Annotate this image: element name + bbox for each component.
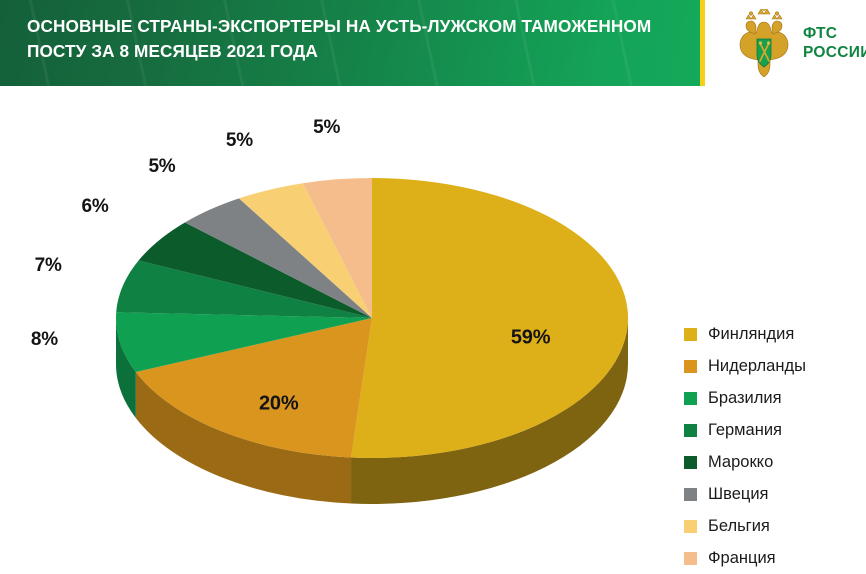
pie-label-бразилия: 8%: [31, 329, 58, 351]
legend-color-swatch: [684, 360, 697, 373]
legend-item[interactable]: Швеция: [684, 478, 864, 510]
legend-item[interactable]: Бельгия: [684, 510, 864, 542]
legend-item[interactable]: Марокко: [684, 446, 864, 478]
header-yellow-accent-bar: [700, 0, 705, 86]
legend-item-label: Швеция: [708, 485, 768, 504]
legend-item-label: Франция: [708, 549, 776, 568]
pie-label-франция: 5%: [313, 117, 340, 139]
pie-label-швеция: 5%: [148, 156, 175, 178]
legend-item[interactable]: Финляндия: [684, 318, 864, 350]
legend-item[interactable]: Бразилия: [684, 382, 864, 414]
page-title: ОСНОВНЫЕ СТРАНЫ-ЭКСПОРТЕРЫ НА УСТЬ-ЛУЖСК…: [27, 14, 687, 64]
pie-label-финляндия: 59%: [511, 326, 550, 349]
legend-item-label: Германия: [708, 421, 782, 440]
fts-logo-text: ФТС РОССИИ: [803, 24, 866, 62]
pie-chart: 59%20%8%7%6%5%5%5% ФинляндияНидерландыБр…: [0, 86, 866, 526]
legend-color-swatch: [684, 520, 697, 533]
legend-color-swatch: [684, 488, 697, 501]
legend-item[interactable]: Нидерланды: [684, 350, 864, 382]
legend-item-label: Марокко: [708, 453, 773, 472]
legend-item[interactable]: Франция: [684, 542, 864, 574]
legend-color-swatch: [684, 456, 697, 469]
legend-item-label: Нидерланды: [708, 357, 806, 376]
legend-color-swatch: [684, 328, 697, 341]
legend-item-label: Бразилия: [708, 389, 782, 408]
legend-color-swatch: [684, 392, 697, 405]
chart-legend: ФинляндияНидерландыБразилияГерманияМарок…: [684, 318, 864, 574]
pie-label-бельгия: 5%: [226, 130, 253, 152]
fts-logo: ФТС РОССИИ: [727, 7, 859, 79]
pie-label-марокко: 6%: [81, 196, 108, 218]
pie-label-германия: 7%: [35, 255, 62, 277]
legend-color-swatch: [684, 424, 697, 437]
pie-svg: [95, 96, 665, 516]
pie-label-нидерланды: 20%: [259, 393, 298, 416]
legend-color-swatch: [684, 552, 697, 565]
legend-item-label: Бельгия: [708, 517, 770, 536]
legend-item-label: Финляндия: [708, 325, 794, 344]
pie-graphic: 59%20%8%7%6%5%5%5%: [95, 96, 665, 516]
legend-item[interactable]: Германия: [684, 414, 864, 446]
fts-russia-eagle-icon: [733, 9, 795, 77]
